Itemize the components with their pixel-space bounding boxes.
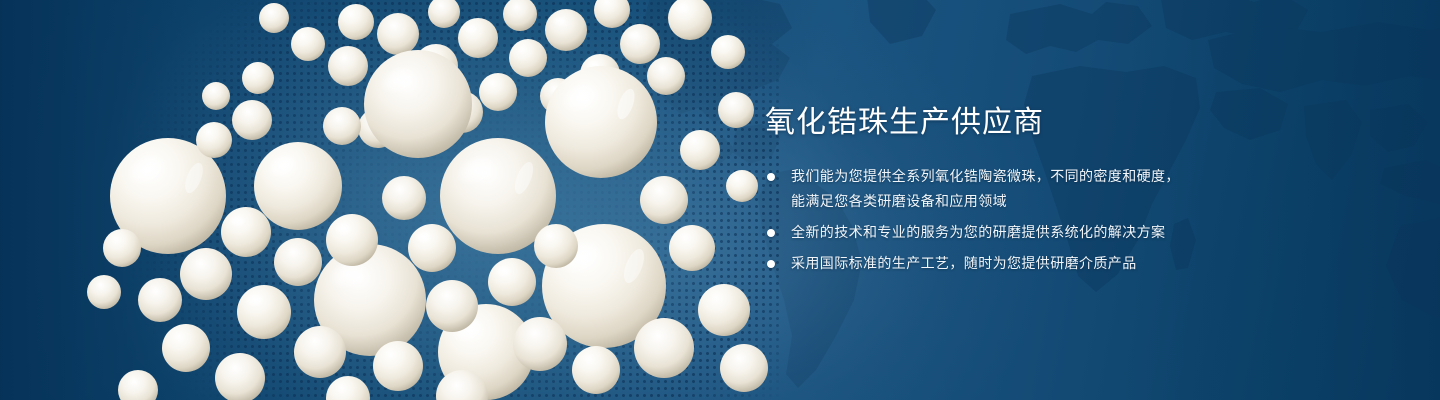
list-item: 我们能为您提供全系列氧化锆陶瓷微珠，不同的密度和硬度， 能满足您各类研磨设备和应… [765,164,1405,214]
list-item-line-1: 采用国际标准的生产工艺，随时为您提供研磨介质产品 [791,255,1137,271]
bullet-dot-icon [767,260,775,268]
page-title: 氧化锆珠生产供应商 [765,104,1405,142]
hero-banner: 氧化锆珠生产供应商 我们能为您提供全系列氧化锆陶瓷微珠，不同的密度和硬度， 能满… [0,0,1440,400]
list-item: 采用国际标准的生产工艺，随时为您提供研磨介质产品 [765,251,1405,276]
banner-copy: 氧化锆珠生产供应商 我们能为您提供全系列氧化锆陶瓷微珠，不同的密度和硬度， 能满… [765,104,1405,276]
list-item-line-1: 全新的技术和专业的服务为您的研磨提供系统化的解决方案 [791,224,1165,240]
bullet-dot-icon [767,229,775,237]
feature-list: 我们能为您提供全系列氧化锆陶瓷微珠，不同的密度和硬度， 能满足您各类研磨设备和应… [765,164,1405,276]
zirconia-beads-image [0,0,780,400]
list-item-line-1: 我们能为您提供全系列氧化锆陶瓷微珠，不同的密度和硬度， [791,168,1180,184]
list-item-line-2: 能满足您各类研磨设备和应用领域 [791,189,1405,214]
bullet-dot-icon [767,173,775,181]
list-item: 全新的技术和专业的服务为您的研磨提供系统化的解决方案 [765,220,1405,245]
